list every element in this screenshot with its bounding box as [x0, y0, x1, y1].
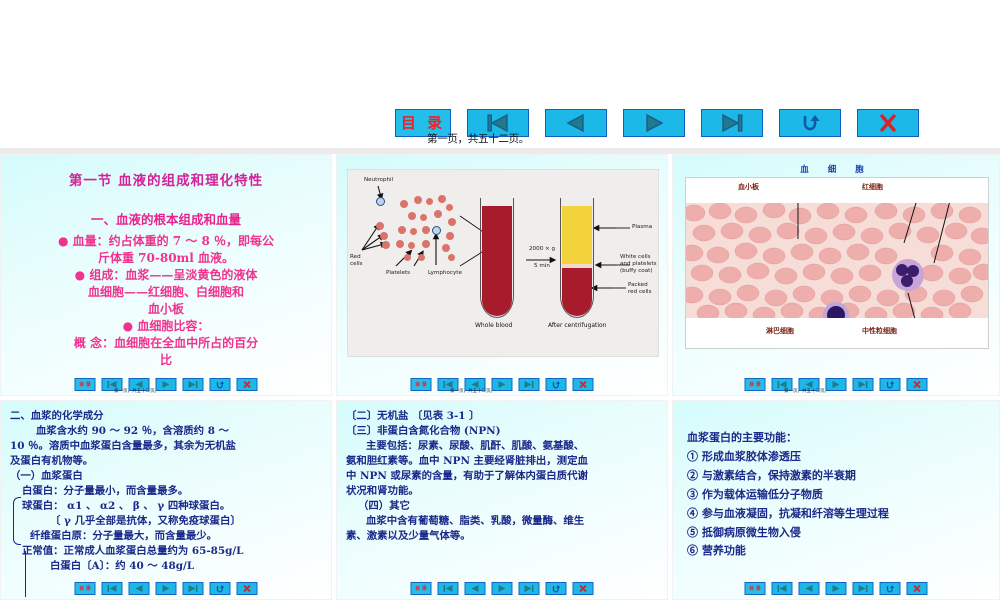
slide-1-body: 第一节 血液的组成和理化特性 一、血液的根本组成和血量 ● 血量：约占体重的 7… — [1, 155, 331, 369]
mini-contents-button-6[interactable]: 目 录 — [745, 582, 766, 595]
mini-close-button-5[interactable] — [573, 582, 594, 595]
neutrophil-label-bottom: 中性粒细胞 — [862, 326, 897, 336]
centrifuge-force-label: 2000 × g — [529, 246, 555, 253]
mini-contents-button-2[interactable]: 目 录 — [411, 378, 432, 391]
slides-container: 第一节 血液的组成和理化特性 一、血液的根本组成和血量 ● 血量：约占体重的 7… — [0, 154, 1000, 600]
red-cell — [404, 254, 411, 261]
mini-return-button-3[interactable] — [880, 378, 901, 391]
micrograph-cells — [686, 203, 989, 318]
u-turn-icon — [795, 113, 825, 133]
slide-4-line-3: 10 ％。溶质中血浆蛋白含量最多，其余为无机盐 — [10, 439, 322, 454]
red-x-icon — [241, 380, 254, 389]
mini-contents-button-5[interactable]: 目 录 — [411, 582, 432, 595]
slide-1-line-1: ● 血量：约占体重的 7 ～ 8 ％，即每公 — [11, 233, 321, 250]
mini-contents-label-4: 目 录 — [79, 585, 91, 592]
red-cell — [448, 218, 456, 226]
lymphocyte-label: Lymphocyte — [428, 270, 462, 277]
mini-return-button-2[interactable] — [546, 378, 567, 391]
red-cell — [396, 240, 404, 248]
red-cell — [380, 232, 388, 240]
slide-4-line-10: 正常值：正常成人血浆蛋白总量约为 65-85g/L — [10, 544, 322, 559]
mini-close-button-2[interactable] — [573, 378, 594, 391]
slide-5-line-3: 主要包括：尿素、尿酸、肌酐、肌酸、氨基酸、 — [346, 439, 658, 454]
mini-first-button-4[interactable] — [102, 582, 123, 595]
centrifuge-time-label: 5 min — [534, 263, 550, 270]
red-cell — [376, 222, 384, 230]
slide-1-line-3: ● 组成：血浆——呈淡黄色的液体 — [11, 267, 321, 284]
mini-last-button-5[interactable] — [519, 582, 540, 595]
u-turn-icon — [550, 380, 563, 389]
red-x-icon — [873, 113, 903, 133]
skip-forward-icon — [523, 584, 536, 593]
red-cell — [434, 210, 442, 218]
slide-1-line-4: 血细胞——红细胞、白细胞和 — [11, 284, 321, 301]
neutrophil-cell — [376, 197, 385, 206]
whole-blood-caption: Whole blood — [475, 322, 512, 329]
red-cell — [422, 240, 430, 248]
slide-3-mini-toolbar: 目 录 — [745, 378, 928, 391]
skip-back-icon — [776, 584, 789, 593]
skip-forward-icon — [857, 380, 870, 389]
red-cell — [408, 212, 416, 220]
mini-contents-button-1[interactable]: 目 录 — [75, 378, 96, 391]
red-x-icon — [911, 380, 924, 389]
triangle-right-icon — [639, 113, 669, 133]
red-cell — [442, 244, 450, 252]
mini-prev-button-5[interactable] — [465, 582, 486, 595]
mini-contents-button-3[interactable]: 目 录 — [745, 378, 766, 391]
skip-forward-icon — [857, 584, 870, 593]
slide-1-line-6: ● 血细胞比容： — [11, 318, 321, 335]
erythrocyte-label: 红细胞 — [862, 182, 883, 192]
slide-1-heading: 一、血液的根本组成和血量 — [11, 209, 321, 228]
mini-next-button-4[interactable] — [156, 582, 177, 595]
slide-6-item-5: ⑤ 抵御病原微生物入侵 — [687, 524, 999, 543]
mini-next-button-6[interactable] — [826, 582, 847, 595]
slide-1-mini-toolbar: 目 录 — [75, 378, 258, 391]
red-cell — [414, 196, 422, 204]
red-cell — [448, 254, 455, 261]
red-cell — [438, 195, 446, 203]
slide-6-item-6: ⑥ 营养功能 — [687, 542, 999, 561]
contents-label: 目 录 — [401, 116, 445, 131]
skip-forward-icon — [523, 380, 536, 389]
slide-1-title: 第一节 血液的组成和理化特性 — [11, 169, 321, 189]
slide-4-body: 二、血浆的化学成分 血浆含水约 90 ～ 92 ％，含溶质约 8 ～ 10 ％。… — [1, 401, 331, 574]
slide-1-line-7: 概 念：血细胞在全血中所占的百分 — [11, 335, 321, 352]
micrograph-image — [686, 203, 989, 318]
previous-slide-button[interactable] — [545, 109, 607, 137]
slide-2-mini-toolbar: 目 录 — [411, 378, 594, 391]
value-vline — [25, 551, 26, 597]
red-cell — [410, 228, 417, 235]
red-cell — [398, 226, 406, 234]
slide-6-heading: 血浆蛋白的主要功能： — [687, 429, 999, 448]
neutrophil-cell — [892, 259, 924, 291]
return-button[interactable] — [779, 109, 841, 137]
blood-micrograph: 血小板 红细胞 — [685, 177, 989, 349]
skip-back-icon — [442, 584, 455, 593]
slide-grid-viewer: 目 录 — [0, 0, 1000, 600]
mini-close-button-1[interactable] — [237, 378, 258, 391]
slide-5-mini-toolbar: 目 录 — [411, 582, 594, 595]
slide-5-line-2: 〔三〕非蛋白含氮化合物 (NPN) — [346, 424, 658, 439]
mini-first-button-6[interactable] — [772, 582, 793, 595]
mini-contents-label-5: 目 录 — [415, 585, 427, 592]
triangle-right-icon — [160, 380, 173, 389]
red-cell — [426, 198, 433, 205]
u-turn-icon — [884, 584, 897, 593]
triangle-right-icon — [496, 584, 509, 593]
slide-1-line-8: 比 — [11, 352, 321, 369]
mini-return-button-6[interactable] — [880, 582, 901, 595]
triangle-right-icon — [496, 380, 509, 389]
slide-thumbnail-1[interactable]: 第一节 血液的组成和理化特性 一、血液的根本组成和血量 ● 血量：约占体重的 7… — [0, 154, 332, 396]
skip-forward-icon — [717, 113, 747, 133]
next-slide-button[interactable] — [623, 109, 685, 137]
whole-blood-tube — [480, 198, 514, 318]
slide-thumbnail-4[interactable]: 二、血浆的化学成分 血浆含水约 90 ～ 92 ％，含溶质约 8 ～ 10 ％。… — [0, 400, 332, 600]
mini-return-button-5[interactable] — [546, 582, 567, 595]
slide-3-title: 血 细 胞 — [673, 163, 999, 175]
slide-4-mini-toolbar: 目 录 — [75, 582, 258, 595]
slide-6-item-3: ③ 作为载体运输低分子物质 — [687, 486, 999, 505]
mini-last-button-3[interactable] — [853, 378, 874, 391]
skip-forward-icon — [187, 584, 200, 593]
u-turn-icon — [550, 584, 563, 593]
red-x-icon — [241, 584, 254, 593]
slide-4-line-8: 〔 γ 几乎全部是抗体，又称免疫球蛋白〕 — [10, 514, 322, 529]
slide-thumbnail-6[interactable]: 血浆蛋白的主要功能： ① 形成血浆胶体渗透压 ② 与激素结合，保持激素的半衰期 … — [672, 400, 1000, 600]
buffy-coat-label: White cells and platelets (buffy coat) — [620, 254, 657, 275]
mini-last-button-4[interactable] — [183, 582, 204, 595]
slide-4-line-9: 纤维蛋白原：分子量最大，而含量最少。 — [10, 529, 322, 544]
red-cell — [382, 241, 390, 249]
red-cell — [400, 200, 408, 208]
protein-brace — [13, 497, 21, 545]
triangle-left-icon — [133, 584, 146, 593]
red-x-icon — [911, 584, 924, 593]
mini-last-button-1[interactable] — [183, 378, 204, 391]
red-x-icon — [577, 380, 590, 389]
mini-return-button-1[interactable] — [210, 378, 231, 391]
slide-6-item-1: ① 形成血浆胶体渗透压 — [687, 448, 999, 467]
lymphocyte-cell — [432, 226, 441, 235]
u-turn-icon — [884, 380, 897, 389]
slide-2-page-caption: 第一页，共五十二页。 — [450, 388, 495, 394]
slide-4-line-7: 球蛋白： α1 、 α2 、 β 、 γ 四种球蛋白。 — [10, 499, 322, 514]
slide-5-line-6: 状况和肾功能。 — [346, 484, 658, 499]
slide-6-item-4: ④ 参与血液凝固，抗凝和纤溶等生理过程 — [687, 505, 999, 524]
red-cells-label: Red cells — [350, 254, 363, 268]
triangle-right-icon — [830, 584, 843, 593]
u-turn-icon — [214, 380, 227, 389]
slide-4-line-2: 血浆含水约 90 ～ 92 ％，含溶质约 8 ～ — [10, 424, 322, 439]
last-slide-button[interactable] — [701, 109, 763, 137]
mini-contents-label-3: 目 录 — [749, 381, 761, 388]
triangle-right-icon — [830, 380, 843, 389]
mini-contents-label-1: 目 录 — [79, 381, 91, 388]
page-caption: 第一页，共五十二页。 — [427, 131, 529, 146]
mini-last-button-6[interactable] — [853, 582, 874, 595]
slide-thumbnail-5[interactable]: 〔二〕无机盐 〔见表 3-1 〕 〔三〕非蛋白含氮化合物 (NPN) 主要包括：… — [336, 400, 668, 600]
mini-return-button-4[interactable] — [210, 582, 231, 595]
triangle-left-icon — [561, 113, 591, 133]
slide-4-line-6: 白蛋白：分子量最小，而含量最多。 — [10, 484, 322, 499]
slide-5-line-7: （四）其它 — [346, 499, 658, 514]
mini-contents-label-2: 目 录 — [415, 381, 427, 388]
red-cell — [420, 214, 427, 221]
skip-back-icon — [483, 113, 513, 133]
slide-4-line-4: 及蛋白有机物等。 — [10, 454, 322, 469]
plasma-label: Plasma — [632, 224, 652, 231]
mini-close-button-6[interactable] — [907, 582, 928, 595]
packed-red-cells-label: Packed red cells — [628, 282, 652, 296]
slide-6-mini-toolbar: 目 录 — [745, 582, 928, 595]
mini-next-button-5[interactable] — [492, 582, 513, 595]
slide-5-line-1: 〔二〕无机盐 〔见表 3-1 〕 — [346, 409, 658, 424]
slide-4-line-5: （一）血浆蛋白 — [10, 469, 322, 484]
centrifuged-tube — [560, 198, 594, 318]
red-cell — [408, 242, 415, 249]
u-turn-icon — [214, 584, 227, 593]
mini-close-button-3[interactable] — [907, 378, 928, 391]
slide-1-page-caption: 第一页，共五十二页。 — [114, 388, 159, 394]
red-cell — [418, 254, 425, 261]
slide-5-body: 〔二〕无机盐 〔见表 3-1 〕 〔三〕非蛋白含氮化合物 (NPN) 主要包括：… — [337, 401, 667, 544]
lymphocyte-label-bottom: 淋巴细胞 — [766, 326, 794, 336]
triangle-left-icon — [469, 584, 482, 593]
slide-thumbnail-2[interactable]: Neutrophil — [336, 154, 668, 396]
mini-last-button-2[interactable] — [519, 378, 540, 391]
mini-contents-button-4[interactable]: 目 录 — [75, 582, 96, 595]
slide-3-page-caption: 第一页，共五十二页。 — [784, 388, 829, 394]
triangle-left-icon — [803, 584, 816, 593]
slide-thumbnail-3[interactable]: 血 细 胞 血小板 红细胞 — [672, 154, 1000, 396]
mini-contents-label-6: 目 录 — [749, 585, 761, 592]
mini-first-button-5[interactable] — [438, 582, 459, 595]
slide-5-line-8: 血浆中含有葡萄糖、脂类、乳酸，微量酶、维生 — [346, 514, 658, 529]
red-cell — [422, 226, 430, 234]
skip-forward-icon — [187, 380, 200, 389]
mini-close-button-4[interactable] — [237, 582, 258, 595]
slide-5-line-5: 中 NPN 或尿素的含量，有助于了解体内蛋白质代谢 — [346, 469, 658, 484]
slide-5-line-4: 氨和胆红素等。血中 NPN 主要经肾脏排出，测定血 — [346, 454, 658, 469]
slide-6-item-2: ② 与激素结合，保持激素的半衰期 — [687, 467, 999, 486]
platelets-label: Platelets — [386, 270, 410, 277]
slide-4-line-11: 白蛋白〔A〕：约 40 ～ 48g/L — [10, 559, 322, 574]
slide-1-line-2: 斤体重 70-80ml 血液。 — [11, 250, 321, 267]
slide-5-line-9: 素、激素以及少量气体等。 — [346, 529, 658, 544]
slide-1-line-5: 血小板 — [11, 301, 321, 318]
after-centrifugation-caption: After centrifugation — [548, 322, 607, 329]
platelet-label: 血小板 — [738, 182, 759, 192]
slide-4-line-1: 二、血浆的化学成分 — [10, 409, 322, 424]
close-button[interactable] — [857, 109, 919, 137]
triangle-right-icon — [160, 584, 173, 593]
red-x-icon — [577, 584, 590, 593]
mini-prev-button-4[interactable] — [129, 582, 150, 595]
mini-prev-button-6[interactable] — [799, 582, 820, 595]
slide-6-body: 血浆蛋白的主要功能： ① 形成血浆胶体渗透压 ② 与激素结合，保持激素的半衰期 … — [673, 401, 999, 561]
skip-back-icon — [106, 584, 119, 593]
red-cell — [446, 204, 453, 211]
centrifugation-diagram: Neutrophil — [347, 169, 659, 357]
red-cell — [446, 232, 454, 240]
